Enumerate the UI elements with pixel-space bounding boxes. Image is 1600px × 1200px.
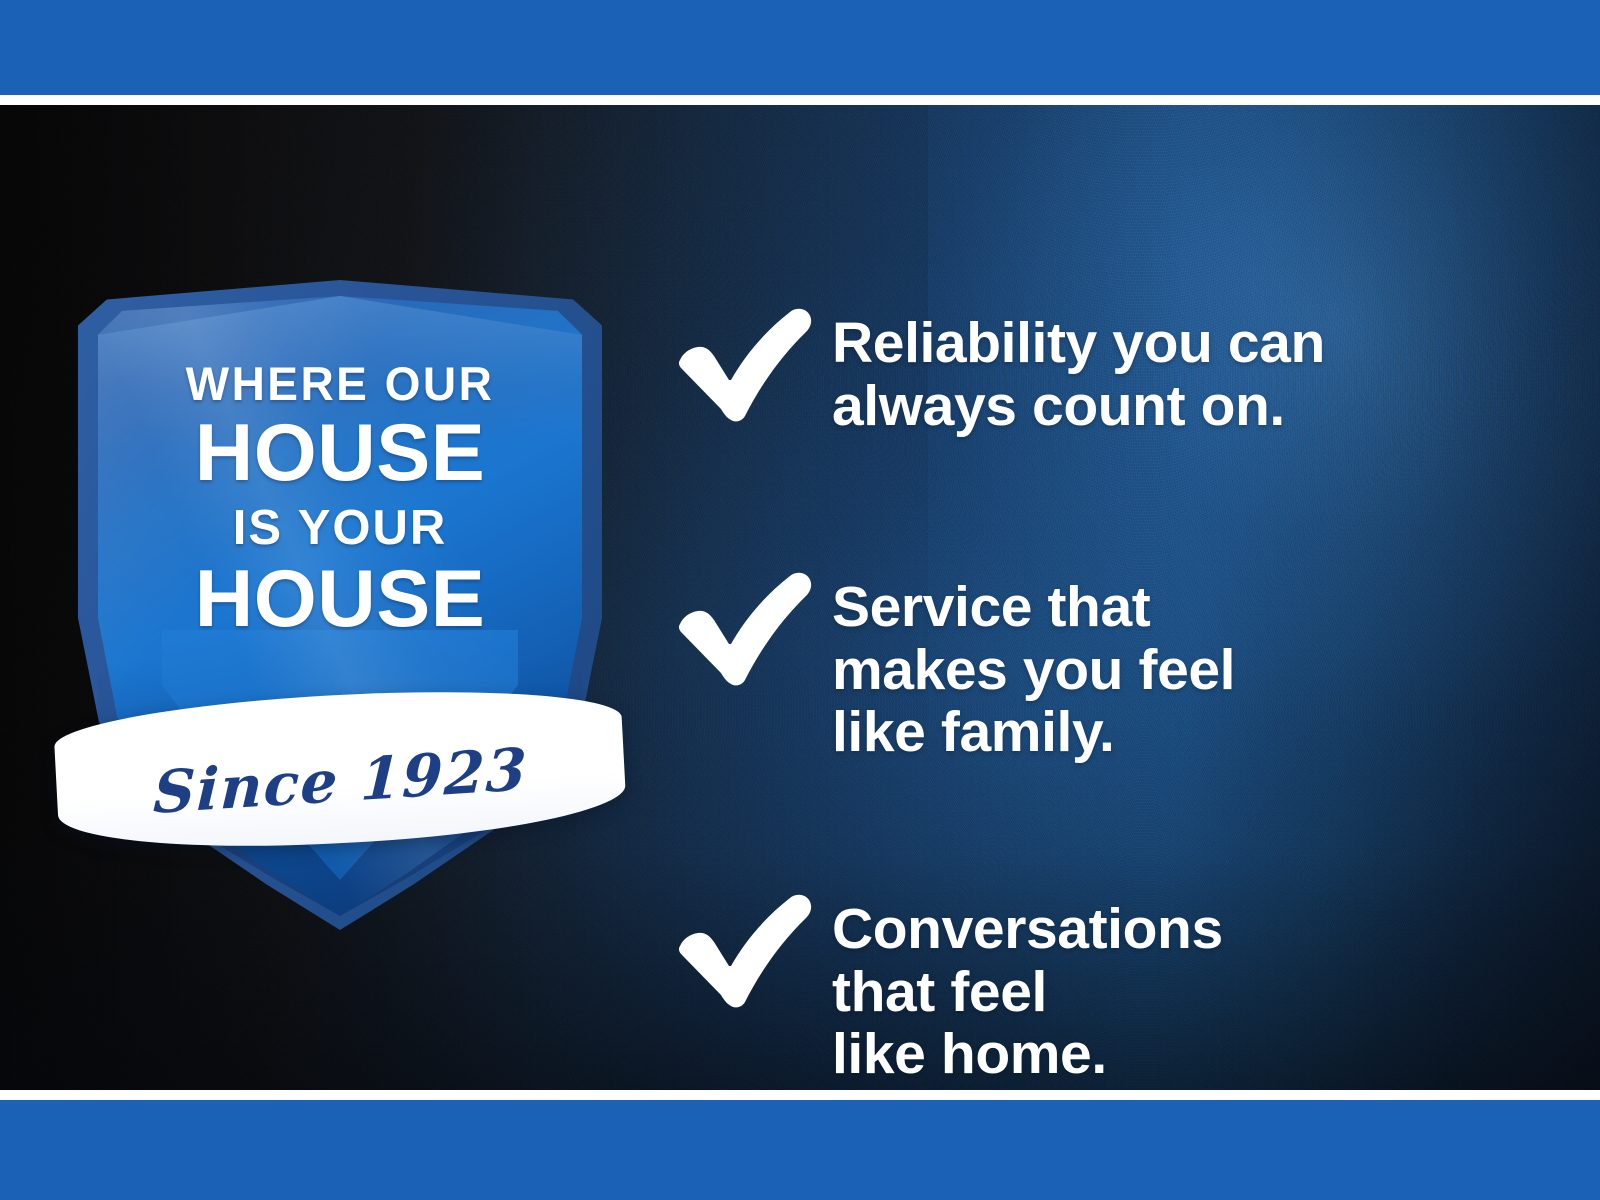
benefit-item-1: Reliability you can always count on. bbox=[672, 306, 1325, 437]
bottom-divider bbox=[0, 1090, 1600, 1100]
badge-line-1: WHERE OUR bbox=[103, 360, 577, 407]
benefit-item-3: Conversations that feel like home. bbox=[672, 892, 1223, 1086]
benefit-2-line-2: makes you feel bbox=[832, 639, 1235, 702]
shield-badge: WHERE OUR HOUSE IS YOUR HOUSE Since 1923 bbox=[70, 280, 610, 930]
badge-line-3: IS YOUR bbox=[98, 504, 582, 553]
top-divider bbox=[0, 95, 1600, 105]
checkmark-icon bbox=[672, 892, 822, 1008]
top-brand-bar bbox=[0, 0, 1600, 95]
benefit-text-3: Conversations that feel like home. bbox=[832, 892, 1223, 1086]
bottom-brand-bar bbox=[0, 1100, 1600, 1200]
benefit-1-line-2: always count on. bbox=[832, 375, 1325, 438]
benefit-text-2: Service that makes you feel like family. bbox=[832, 570, 1235, 764]
benefit-2-line-1: Service that bbox=[832, 576, 1235, 639]
benefit-3-line-1: Conversations bbox=[832, 898, 1223, 961]
benefit-3-line-3: like home. bbox=[832, 1023, 1223, 1086]
benefit-text-1: Reliability you can always count on. bbox=[832, 306, 1325, 437]
since-ribbon: Since 1923 bbox=[53, 680, 628, 858]
benefit-2-line-3: like family. bbox=[832, 701, 1235, 764]
benefit-3-line-2: that feel bbox=[832, 961, 1223, 1024]
promo-graphic: WHERE OUR HOUSE IS YOUR HOUSE Since 1923 bbox=[0, 0, 1600, 1200]
checkmark-icon bbox=[672, 306, 822, 422]
benefit-1-line-1: Reliability you can bbox=[832, 312, 1325, 375]
badge-line-2: HOUSE bbox=[98, 413, 582, 494]
benefit-item-2: Service that makes you feel like family. bbox=[672, 570, 1235, 764]
main-stage: WHERE OUR HOUSE IS YOUR HOUSE Since 1923 bbox=[0, 105, 1600, 1090]
badge-line-4: HOUSE bbox=[98, 559, 582, 640]
badge-headline: WHERE OUR HOUSE IS YOUR HOUSE bbox=[98, 360, 582, 640]
checkmark-icon bbox=[672, 570, 822, 686]
